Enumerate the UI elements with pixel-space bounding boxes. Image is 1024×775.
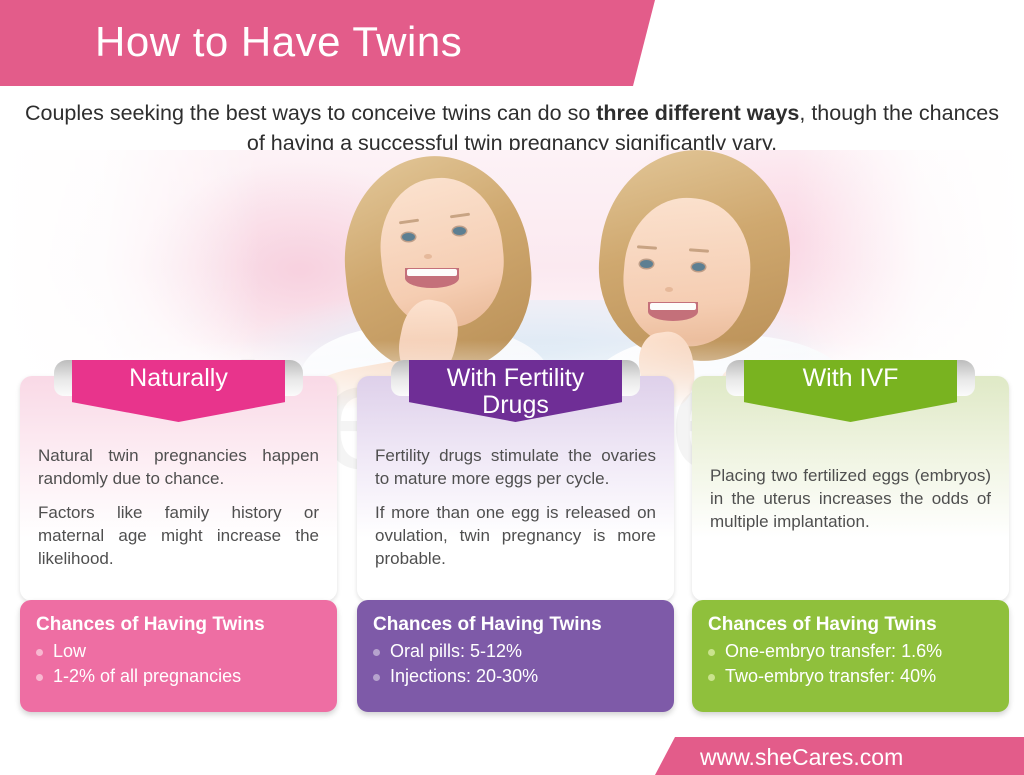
subtitle-emphasis: three different ways [596, 101, 799, 125]
girl-left-teeth [407, 269, 457, 276]
card-ivf-title: With IVF [803, 365, 899, 392]
card-fertility-drugs-paragraph-2: If more than one egg is released on ovul… [375, 501, 656, 570]
card-naturally-paragraph-1: Natural twin pregnancies happen randomly… [38, 444, 319, 490]
card-naturally-paragraph-2: Factors like family history or maternal … [38, 501, 319, 570]
subtitle: Couples seeking the best ways to conceiv… [0, 98, 1024, 158]
girl-right-eye-2 [692, 263, 705, 271]
card-ivf-stats: Chances of Having Twins One-embryo trans… [692, 600, 1009, 712]
card-ivf-paragraph-1: Placing two fertilized eggs (embryos) in… [710, 464, 991, 533]
card-naturally-stats: Chances of Having Twins Low 1-2% of all … [20, 600, 337, 712]
card-ivf-text: Placing two fertilized eggs (embryos) in… [710, 464, 991, 533]
list-item: Low [36, 639, 321, 664]
girl-left-eye-2 [453, 227, 466, 235]
card-fertility-drugs-paragraph-1: Fertility drugs stimulate the ovaries to… [375, 444, 656, 490]
list-item: One-embryo transfer: 1.6% [708, 639, 993, 664]
card-fertility-drugs-stats-list: Oral pills: 5-12% Injections: 20-30% [373, 639, 658, 689]
girl-left-mouth [405, 268, 459, 288]
card-fertility-drugs-text: Fertility drugs stimulate the ovaries to… [375, 444, 656, 570]
card-naturally-title: Naturally [129, 365, 228, 392]
card-naturally-stats-title: Chances of Having Twins [36, 614, 321, 636]
card-fertility-drugs-stats-title: Chances of Having Twins [373, 614, 658, 636]
girl-right-eye-1 [640, 260, 653, 268]
girl-right-nose [665, 287, 673, 292]
card-fertility-drugs-title: With Fertility Drugs [447, 365, 585, 419]
card-naturally-text: Natural twin pregnancies happen randomly… [38, 444, 319, 570]
page-title: How to Have Twins [95, 18, 462, 66]
list-item: 1-2% of all pregnancies [36, 664, 321, 689]
girl-left-nose [424, 254, 432, 259]
card-ivf-stats-title: Chances of Having Twins [708, 614, 993, 636]
card-fertility-drugs-stats: Chances of Having Twins Oral pills: 5-12… [357, 600, 674, 712]
girl-right-teeth [650, 303, 696, 310]
list-item: Oral pills: 5-12% [373, 639, 658, 664]
footer-url[interactable]: www.sheCares.com [700, 744, 903, 771]
girl-right-mouth [648, 302, 698, 321]
cards-row: Naturally Natural twin pregnancies happe… [0, 360, 1024, 730]
list-item: Injections: 20-30% [373, 664, 658, 689]
list-item: Two-embryo transfer: 40% [708, 664, 993, 689]
card-ivf-stats-list: One-embryo transfer: 1.6% Two-embryo tra… [708, 639, 993, 689]
card-naturally-stats-list: Low 1-2% of all pregnancies [36, 639, 321, 689]
subtitle-part-1: Couples seeking the best ways to conceiv… [25, 101, 596, 125]
girl-left-eye-1 [402, 233, 415, 241]
